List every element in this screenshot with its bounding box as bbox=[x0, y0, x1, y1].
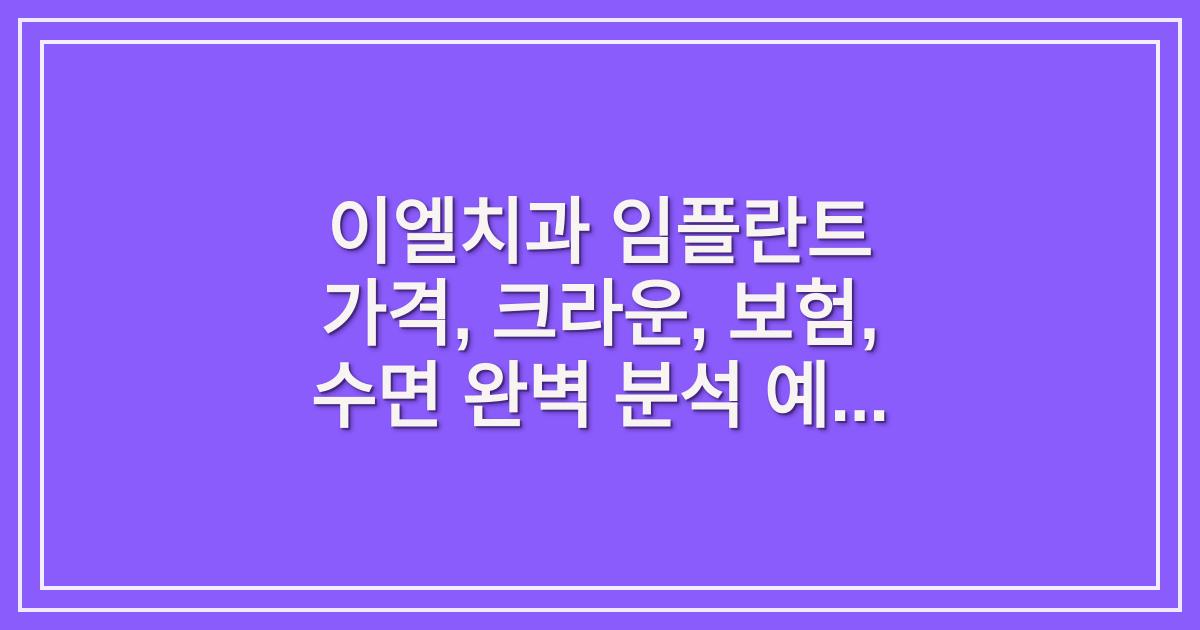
og-image-card: 이엘치과 임플란트 가격, 크라운, 보험, 수면 완벽 분석 예... bbox=[0, 0, 1200, 630]
title-line-3: 수면 완벽 분석 예... bbox=[311, 357, 888, 437]
title-line-2: 가격, 크라운, 보험, bbox=[321, 275, 879, 355]
title-container: 이엘치과 임플란트 가격, 크라운, 보험, 수면 완벽 분석 예... bbox=[0, 0, 1200, 630]
title-line-1: 이엘치과 임플란트 bbox=[327, 193, 872, 273]
page-title: 이엘치과 임플란트 가격, 크라운, 보험, 수면 완벽 분석 예... bbox=[120, 192, 1080, 438]
